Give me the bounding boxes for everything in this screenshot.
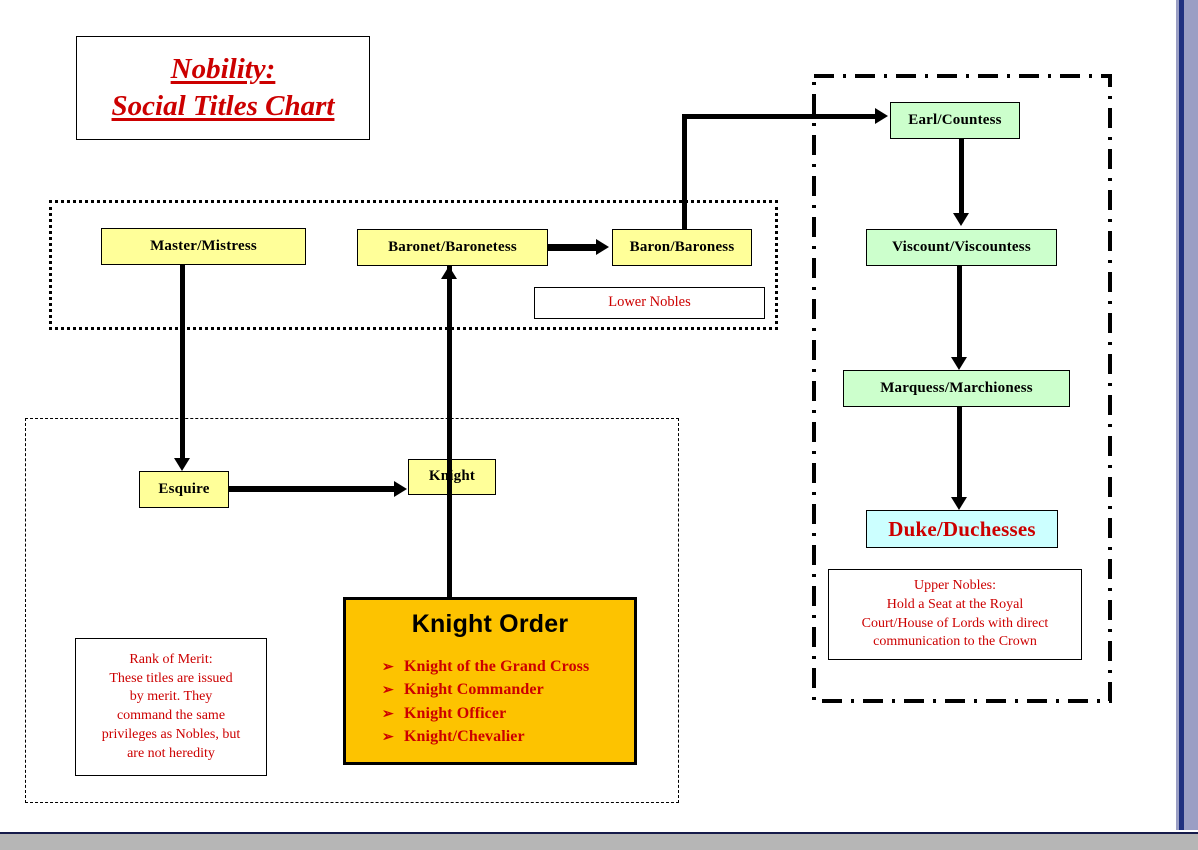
- connector-baronet-to-baron: [548, 244, 599, 251]
- rank-of-merit-note-box: Rank of Merit: These titles are issued b…: [75, 638, 267, 776]
- bottom-status-band: [0, 834, 1198, 850]
- connector-viscount-to-marquess: [957, 266, 962, 360]
- nobility-social-titles-chart: Nobility: Social Titles Chart Master/Mis…: [0, 0, 1198, 850]
- knight-order-item-label: Knight/Chevalier: [404, 725, 525, 748]
- list-item[interactable]: ➢ Knight of the Grand Cross: [382, 655, 634, 678]
- chart-title-box: Nobility: Social Titles Chart: [76, 36, 370, 140]
- node-viscount-viscountess[interactable]: Viscount/Viscountess: [866, 229, 1057, 266]
- connector-baron-to-earl-horizontal: [682, 114, 878, 119]
- upper-nobles-note-line-3: Court/House of Lords with direct: [862, 615, 1049, 634]
- knight-order-list: ➢ Knight of the Grand Cross ➢ Knight Com…: [346, 655, 634, 748]
- node-duke-duchesses[interactable]: Duke/Duchesses: [866, 510, 1058, 548]
- arrowhead-master-to-esquire: [174, 458, 190, 471]
- rank-of-merit-note-line-1: Rank of Merit:: [129, 651, 212, 670]
- connector-master-to-esquire: [180, 265, 185, 465]
- knight-order-item-label: Knight of the Grand Cross: [404, 655, 589, 678]
- connector-earl-to-viscount: [959, 139, 964, 217]
- rank-of-merit-note-line-2: These titles are issued: [109, 670, 232, 689]
- lower-nobles-label: Lower Nobles: [608, 293, 691, 312]
- connector-knight-to-baronet: [447, 266, 452, 599]
- rank-of-merit-note-line-5: privileges as Nobles, but: [102, 726, 240, 745]
- upper-nobles-note-line-4: communication to the Crown: [873, 633, 1037, 652]
- arrowhead-viscount-to-marquess: [951, 357, 967, 370]
- node-baronet-baronetess[interactable]: Baronet/Baronetess: [357, 229, 548, 266]
- arrowhead-earl-to-viscount: [953, 213, 969, 226]
- node-baronet-baronetess-label: Baronet/Baronetess: [388, 239, 517, 256]
- arrow-bullet-icon: ➢: [382, 658, 404, 678]
- list-item[interactable]: ➢ Knight/Chevalier: [382, 725, 634, 748]
- arrow-bullet-icon: ➢: [382, 728, 404, 748]
- node-esquire-label: Esquire: [158, 481, 209, 498]
- list-item[interactable]: ➢ Knight Officer: [382, 702, 634, 725]
- upper-nobles-note-box: Upper Nobles: Hold a Seat at the Royal C…: [828, 569, 1082, 660]
- node-viscount-viscountess-label: Viscount/Viscountess: [892, 239, 1031, 256]
- arrowhead-baron-to-earl: [875, 108, 888, 124]
- node-baron-baroness-label: Baron/Baroness: [630, 239, 735, 256]
- list-item[interactable]: ➢ Knight Commander: [382, 678, 634, 701]
- node-duke-duchesses-label: Duke/Duchesses: [888, 517, 1035, 541]
- node-master-mistress-label: Master/Mistress: [150, 238, 257, 255]
- node-knight-label: Knight: [429, 468, 475, 485]
- rank-of-merit-note-line-3: by merit. They: [130, 688, 213, 707]
- upper-nobles-note-line-2: Hold a Seat at the Royal: [887, 596, 1023, 615]
- arrowhead-baronet-to-baron: [596, 239, 609, 255]
- lower-nobles-label-box: Lower Nobles: [534, 287, 765, 319]
- rank-of-merit-note-line-6: are not heredity: [127, 745, 215, 764]
- knight-order-item-label: Knight Commander: [404, 678, 544, 701]
- node-earl-countess[interactable]: Earl/Countess: [890, 102, 1020, 139]
- knight-order-panel[interactable]: Knight Order ➢ Knight of the Grand Cross…: [343, 597, 637, 765]
- knight-order-title: Knight Order: [346, 610, 634, 639]
- upper-nobles-note-line-1: Upper Nobles:: [914, 577, 996, 596]
- arrowhead-knight-to-baronet: [441, 266, 457, 279]
- chart-title-line-2: Social Titles Chart: [112, 88, 335, 125]
- connector-esquire-to-knight: [229, 486, 396, 492]
- arrowhead-esquire-to-knight: [394, 481, 407, 497]
- right-scrollbar-rail[interactable]: [1176, 0, 1198, 835]
- node-marquess-marchioness[interactable]: Marquess/Marchioness: [843, 370, 1070, 407]
- node-baron-baroness[interactable]: Baron/Baroness: [612, 229, 752, 266]
- connector-marquess-to-duke: [957, 407, 962, 500]
- node-master-mistress[interactable]: Master/Mistress: [101, 228, 306, 265]
- node-knight[interactable]: Knight: [408, 459, 496, 495]
- node-earl-countess-label: Earl/Countess: [908, 112, 1001, 129]
- arrowhead-marquess-to-duke: [951, 497, 967, 510]
- chart-title-line-1: Nobility:: [171, 51, 276, 88]
- knight-order-item-label: Knight Officer: [404, 702, 506, 725]
- arrow-bullet-icon: ➢: [382, 705, 404, 725]
- node-esquire[interactable]: Esquire: [139, 471, 229, 508]
- rank-of-merit-note-line-4: command the same: [117, 707, 225, 726]
- arrow-bullet-icon: ➢: [382, 681, 404, 701]
- node-marquess-marchioness-label: Marquess/Marchioness: [880, 380, 1033, 397]
- connector-baron-to-earl-vertical: [682, 114, 687, 230]
- right-rail-line: [1179, 0, 1184, 835]
